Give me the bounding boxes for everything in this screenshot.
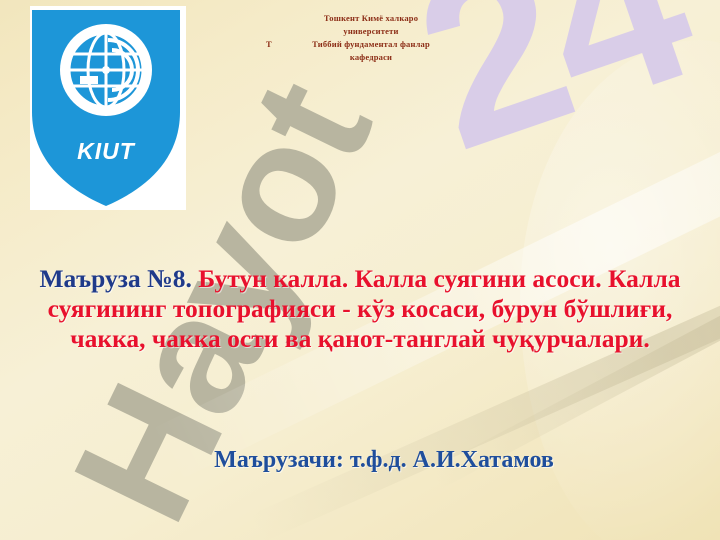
- university-logo: KIUT: [30, 6, 186, 210]
- globe-emblem: [69, 33, 143, 107]
- header-line-3: Тиббий фундаментал фанлар: [312, 39, 430, 49]
- header-line-4: кафедраси: [228, 51, 514, 64]
- header-dept-marker: Т: [266, 38, 272, 51]
- header-line-2: университети: [228, 25, 514, 38]
- header-line-3-wrapper: Т Тиббий фундаментал фанлар: [228, 38, 514, 51]
- presenter-name: Маърузачи: т.ф.д. А.И.Хатамов: [36, 445, 684, 475]
- shield-icon: [30, 8, 182, 208]
- department-header: Тошкент Кимё халкаро университети Т Тибб…: [228, 12, 514, 64]
- header-line-1: Тошкент Кимё халкаро: [228, 12, 514, 25]
- presentation-slide: 24 Hayot KIUT Тошкент Кимё: [0, 0, 720, 540]
- slide-title: Маъруза №8. Бутун калла. Калла суягини а…: [36, 264, 684, 354]
- background-sweep-light: [150, 0, 720, 482]
- lecture-number: Маъруза №8.: [39, 264, 191, 293]
- logo-wordmark: KIUT: [30, 138, 182, 165]
